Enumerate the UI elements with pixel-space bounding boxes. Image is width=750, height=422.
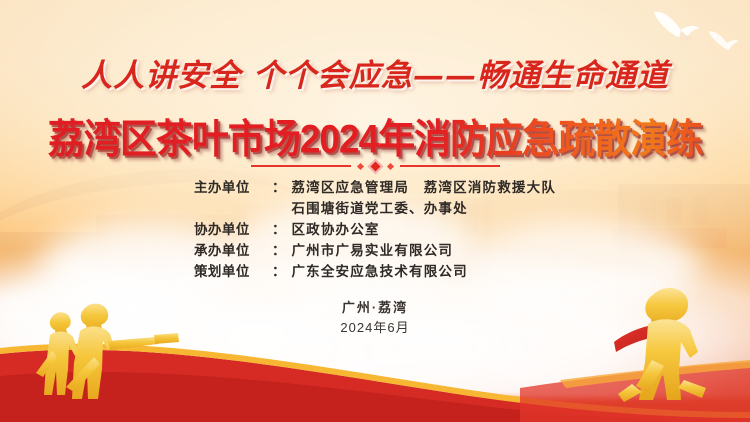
poster-canvas: 人人讲安全 个个会应急——畅通生命通道 荔湾区茶叶市场2024年消防应急疏散演练… [0, 0, 750, 422]
place-text: 广州·荔湾 [0, 298, 750, 318]
organizer-value: 广州市广易实业有限公司 [291, 239, 453, 259]
organizer-colon: ： [272, 218, 286, 238]
organizer-row: 主办单位：荔湾区应急管理局 荔湾区消防救援大队 [194, 176, 556, 196]
organizer-value: 石围塘街道党工委、办事处 [291, 197, 467, 217]
organizer-label: 协办单位 [194, 218, 272, 238]
organizer-colon: ： [272, 239, 286, 259]
date-text: 2024年6月 [0, 318, 750, 338]
organizer-row: 协办单位：区政协办公室 [194, 218, 556, 238]
decorative-divider [0, 158, 750, 174]
organizer-label: 主办单位 [194, 176, 272, 196]
organizer-rows: 主办单位：荔湾区应急管理局 荔湾区消防救援大队主办单位：石围塘街道党工委、办事处… [194, 176, 556, 280]
divider-diamond-small [386, 162, 393, 169]
organizer-colon: ： [272, 260, 286, 280]
page-title: 荔湾区茶叶市场2024年消防应急疏散演练 [0, 106, 750, 164]
poster-content: 人人讲安全 个个会应急——畅通生命通道 荔湾区茶叶市场2024年消防应急疏散演练… [0, 0, 750, 422]
organizer-value: 荔湾区应急管理局 荔湾区消防救援大队 [291, 176, 556, 196]
organizer-row: 策划单位：广东全安应急技术有限公司 [194, 260, 556, 280]
organizer-label: 承办单位 [194, 239, 272, 259]
slogan-text: 人人讲安全 个个会应急——畅通生命通道 [0, 50, 750, 95]
organizer-colon: ： [272, 176, 286, 196]
organizer-row: 主办单位：石围塘街道党工委、办事处 [194, 197, 556, 217]
divider-diamond-small [356, 162, 363, 169]
organizer-value: 区政协办公室 [291, 218, 379, 238]
divider-diamond-large [367, 158, 383, 174]
organizer-block: 主办单位：荔湾区应急管理局 荔湾区消防救援大队主办单位：石围塘街道党工委、办事处… [0, 176, 750, 280]
organizer-row: 承办单位：广州市广易实业有限公司 [194, 239, 556, 259]
divider-line-right [400, 165, 500, 167]
organizer-value: 广东全安应急技术有限公司 [291, 260, 467, 280]
organizer-label: 策划单位 [194, 260, 272, 280]
place-date-block: 广州·荔湾 2024年6月 [0, 298, 750, 338]
divider-line-left [251, 165, 351, 167]
